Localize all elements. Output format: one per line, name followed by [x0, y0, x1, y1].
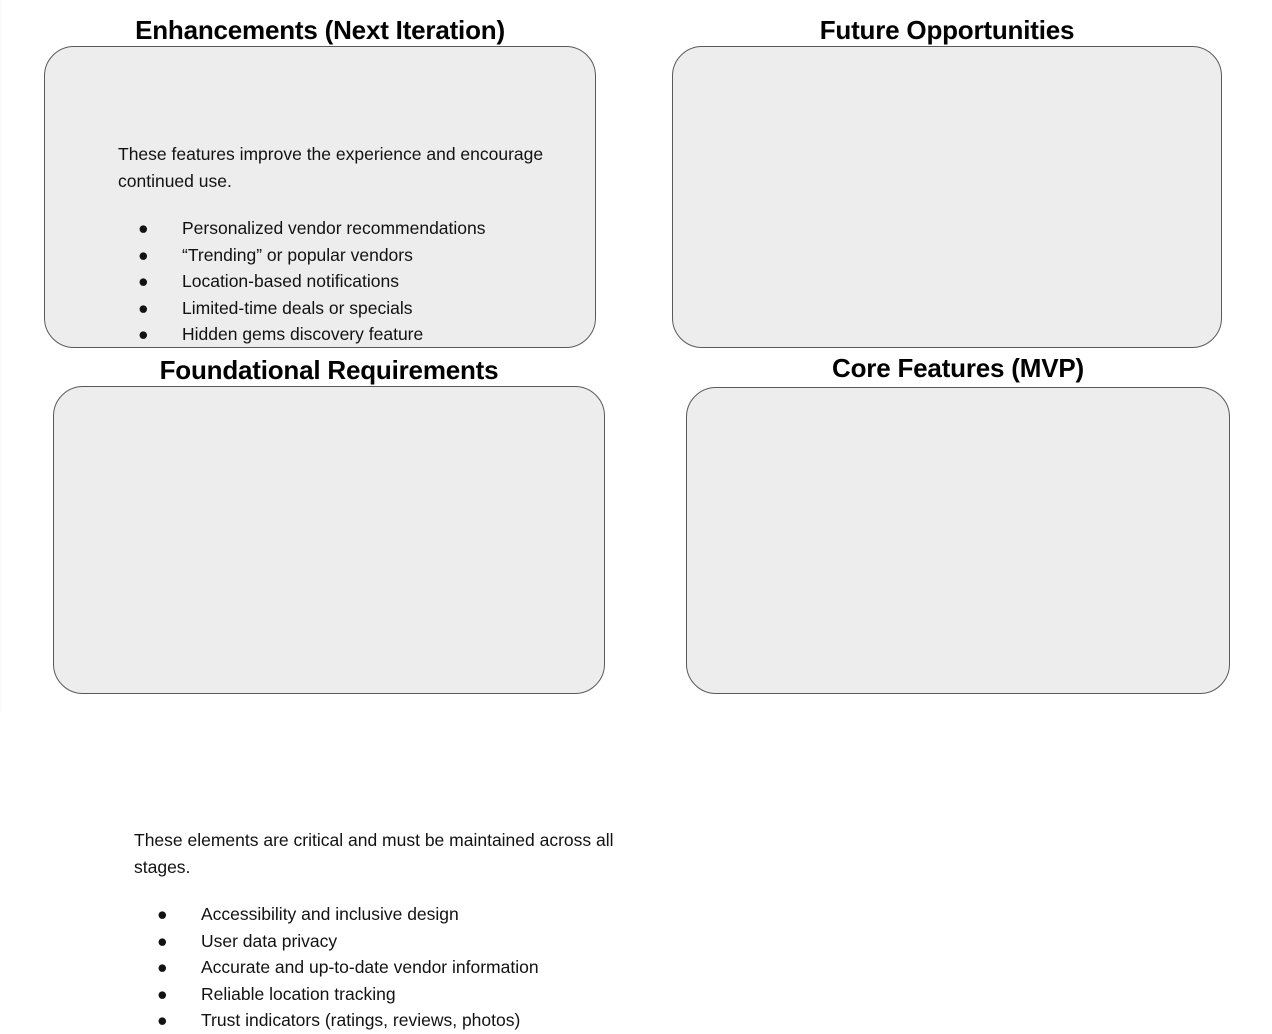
card-box-foundational-requirements: These elements are critical and must be … [53, 386, 605, 694]
bullet-icon: ● [138, 242, 156, 269]
card-list-enhancements: ● Personalized vendor recommendations ● … [138, 215, 608, 348]
list-item-label: Limited-time deals or specials [182, 295, 413, 322]
card-box-enhancements: These features improve the experience an… [44, 46, 596, 348]
bullet-icon: ● [138, 268, 156, 295]
list-item: ● User data privacy [157, 928, 627, 955]
card-intro-enhancements: These features improve the experience an… [118, 141, 608, 195]
list-item-label: Accurate and up-to-date vendor informati… [201, 954, 539, 981]
list-item: ● Hidden gems discovery feature [138, 321, 608, 348]
list-item-label: Location-based notifications [182, 268, 399, 295]
list-item-label: Accessibility and inclusive design [201, 901, 459, 928]
card-box-core-features-mvp: These features are essential to solving … [686, 387, 1230, 694]
list-item-label: User data privacy [201, 928, 337, 955]
list-item-label: Personalized vendor recommendations [182, 215, 486, 242]
list-item: ● Limited-time deals or specials [138, 295, 608, 322]
list-item: ● “Trending” or popular vendors [138, 242, 608, 269]
page-left-edge-rule [0, 0, 2, 713]
bullet-icon: ● [157, 954, 175, 981]
list-item-label: Hidden gems discovery feature [182, 321, 423, 348]
bullet-icon: ● [138, 215, 156, 242]
card-title-future-opportunities: Future Opportunities [672, 15, 1222, 45]
list-item: ● Personalized vendor recommendations [138, 215, 608, 242]
bullet-icon: ● [157, 981, 175, 1008]
card-title-foundational-requirements: Foundational Requirements [53, 355, 605, 385]
list-item: ● Trust indicators (ratings, reviews, ph… [157, 1007, 627, 1034]
bullet-icon: ● [138, 321, 156, 348]
card-title-enhancements: Enhancements (Next Iteration) [44, 15, 596, 45]
card-title-core-features-mvp: Core Features (MVP) [686, 353, 1230, 383]
bullet-icon: ● [157, 1007, 175, 1034]
list-item: ● Location-based notifications [138, 268, 608, 295]
bullet-icon: ● [157, 928, 175, 955]
bullet-icon: ● [157, 901, 175, 928]
card-intro-foundational-requirements: These elements are critical and must be … [134, 827, 624, 881]
list-item: ● Accurate and up-to-date vendor informa… [157, 954, 627, 981]
card-list-foundational-requirements: ● Accessibility and inclusive design ● U… [157, 901, 627, 1034]
card-box-future-opportunities: These features expand engagement and lon… [672, 46, 1222, 348]
list-item: ● Reliable location tracking [157, 981, 627, 1008]
list-item-label: Reliable location tracking [201, 981, 396, 1008]
list-item-label: Trust indicators (ratings, reviews, phot… [201, 1007, 520, 1034]
list-item-label: “Trending” or popular vendors [182, 242, 413, 269]
list-item: ● Accessibility and inclusive design [157, 901, 627, 928]
bullet-icon: ● [138, 295, 156, 322]
